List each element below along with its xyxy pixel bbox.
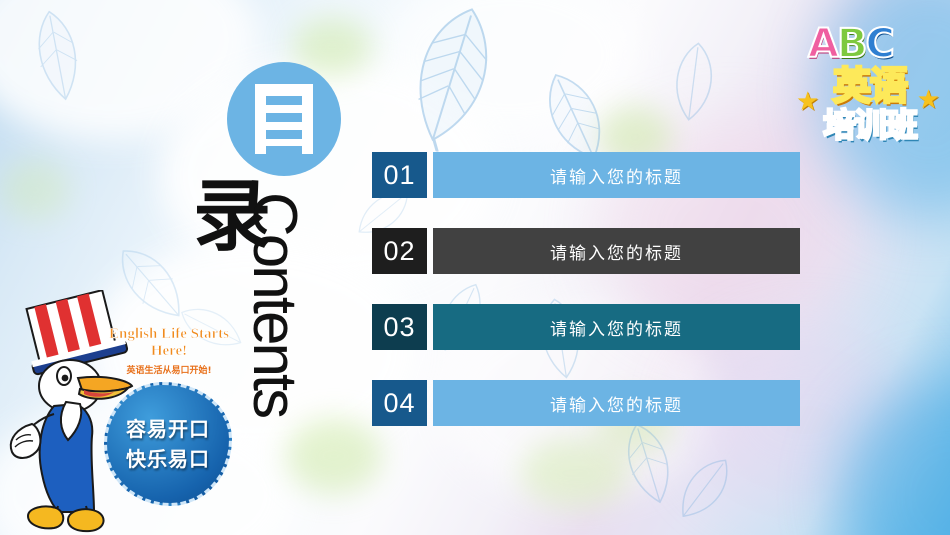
- speech-bubble: 容易开口 快乐易口: [104, 382, 232, 506]
- row-title-bar[interactable]: 请输入您的标题: [433, 304, 800, 350]
- table-row[interactable]: 04 请输入您的标题: [372, 380, 800, 426]
- row-number-badge: 04: [372, 380, 427, 426]
- mascot-slogan-en: English Life Starts Here!: [104, 326, 234, 360]
- row-number-badge: 02: [372, 228, 427, 274]
- row-title-bar[interactable]: 请输入您的标题: [433, 380, 800, 426]
- row-number-badge: 01: [372, 152, 427, 198]
- mascot-illustration: English Life Starts Here! 英语生活从易口开始! 容易开…: [0, 290, 250, 535]
- bubble-line-one: 容易开口: [126, 414, 210, 444]
- document-lines-glyph: [249, 82, 319, 156]
- row-number-badge: 03: [372, 304, 427, 350]
- table-row[interactable]: 02 请输入您的标题: [372, 228, 800, 274]
- contents-title-en: Contents: [243, 192, 305, 416]
- contents-list-icon: [227, 62, 341, 176]
- brand-logo: ABC 英语 ★ ★ 培训班: [794, 8, 944, 158]
- row-title-bar[interactable]: 请输入您的标题: [433, 228, 800, 274]
- table-row[interactable]: 03 请输入您的标题: [372, 304, 800, 350]
- row-title-bar[interactable]: 请输入您的标题: [433, 152, 800, 198]
- contents-rows: 01 请输入您的标题 02 请输入您的标题 03 请输入您的标题 04 请输入您…: [372, 0, 802, 535]
- logo-line-two: 培训班: [796, 100, 944, 146]
- slide-canvas: 录 Contents 01 请输入您的标题 02 请输入您的标题 03 请输入您…: [0, 0, 950, 535]
- bubble-line-two: 快乐易口: [126, 444, 210, 474]
- table-row[interactable]: 01 请输入您的标题: [372, 152, 800, 198]
- mascot-slogan-cn: 英语生活从易口开始!: [104, 363, 234, 376]
